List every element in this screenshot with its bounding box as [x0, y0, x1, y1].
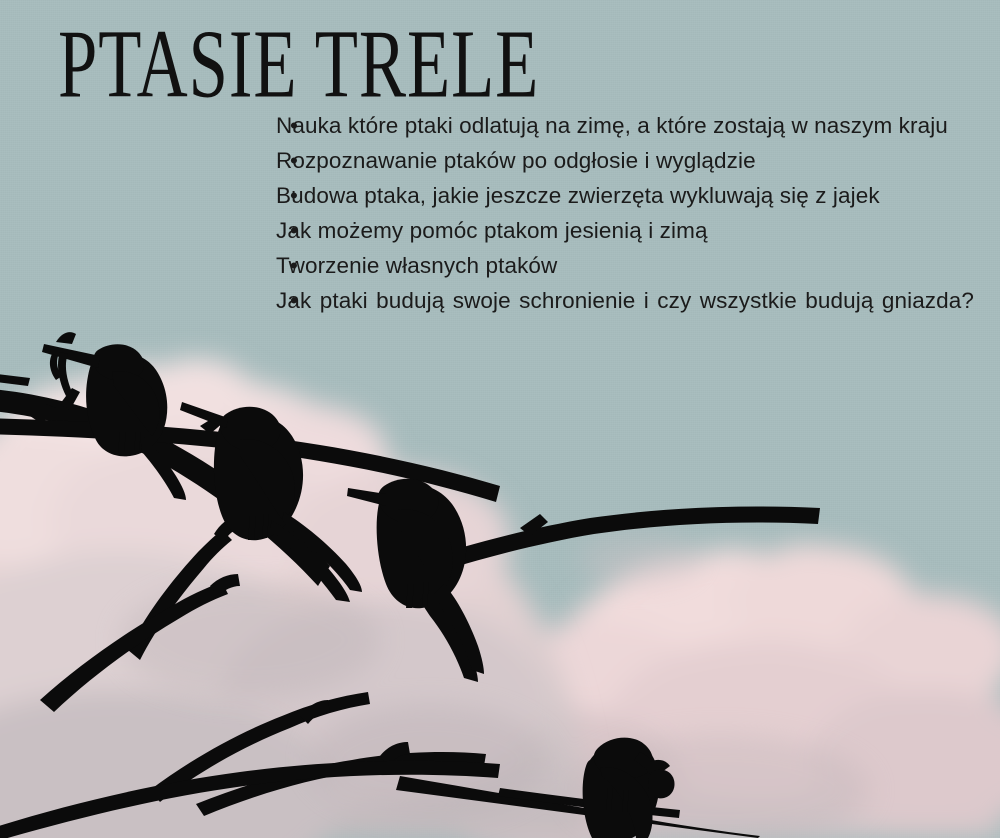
list-item-text: Rozpoznawanie ptaków po odgłosie i wyglą… — [276, 148, 756, 173]
bullet-icon — [254, 255, 276, 278]
bullet-icon — [254, 185, 276, 208]
poster-canvas: PTASIE TRELE Nauka które ptaki odlatują … — [0, 0, 1000, 838]
list-item: Jak możemy pomóc ptakom jesienią i zimą — [218, 213, 974, 248]
list-item: Rozpoznawanie ptaków po odgłosie i wyglą… — [218, 143, 974, 178]
list-item-text: Budowa ptaka, jakie jeszcze zwierzęta wy… — [276, 183, 880, 208]
list-item-text: Jak ptaki budują swoje schronienie i czy… — [276, 288, 974, 313]
list-item-text: Tworzenie własnych ptaków — [276, 253, 557, 278]
list-item: Budowa ptaka, jakie jeszcze zwierzęta wy… — [218, 178, 974, 213]
page-title: PTASIE TRELE — [58, 16, 539, 113]
list-item: Nauka które ptaki odlatują na zimę, a kt… — [218, 108, 974, 143]
list-item-text: Nauka które ptaki odlatują na zimę, a kt… — [276, 113, 948, 138]
list-item: Tworzenie własnych ptaków — [218, 248, 974, 283]
bullet-icon — [254, 150, 276, 173]
bullet-icon — [254, 115, 276, 138]
bullet-icon — [254, 220, 276, 243]
bullet-icon — [254, 290, 276, 313]
list-item-text: Jak możemy pomóc ptakom jesienią i zimą — [276, 218, 708, 243]
topic-list: Nauka które ptaki odlatują na zimę, a kt… — [218, 108, 974, 353]
list-item: Jak ptaki budują swoje schronienie i czy… — [218, 283, 974, 353]
